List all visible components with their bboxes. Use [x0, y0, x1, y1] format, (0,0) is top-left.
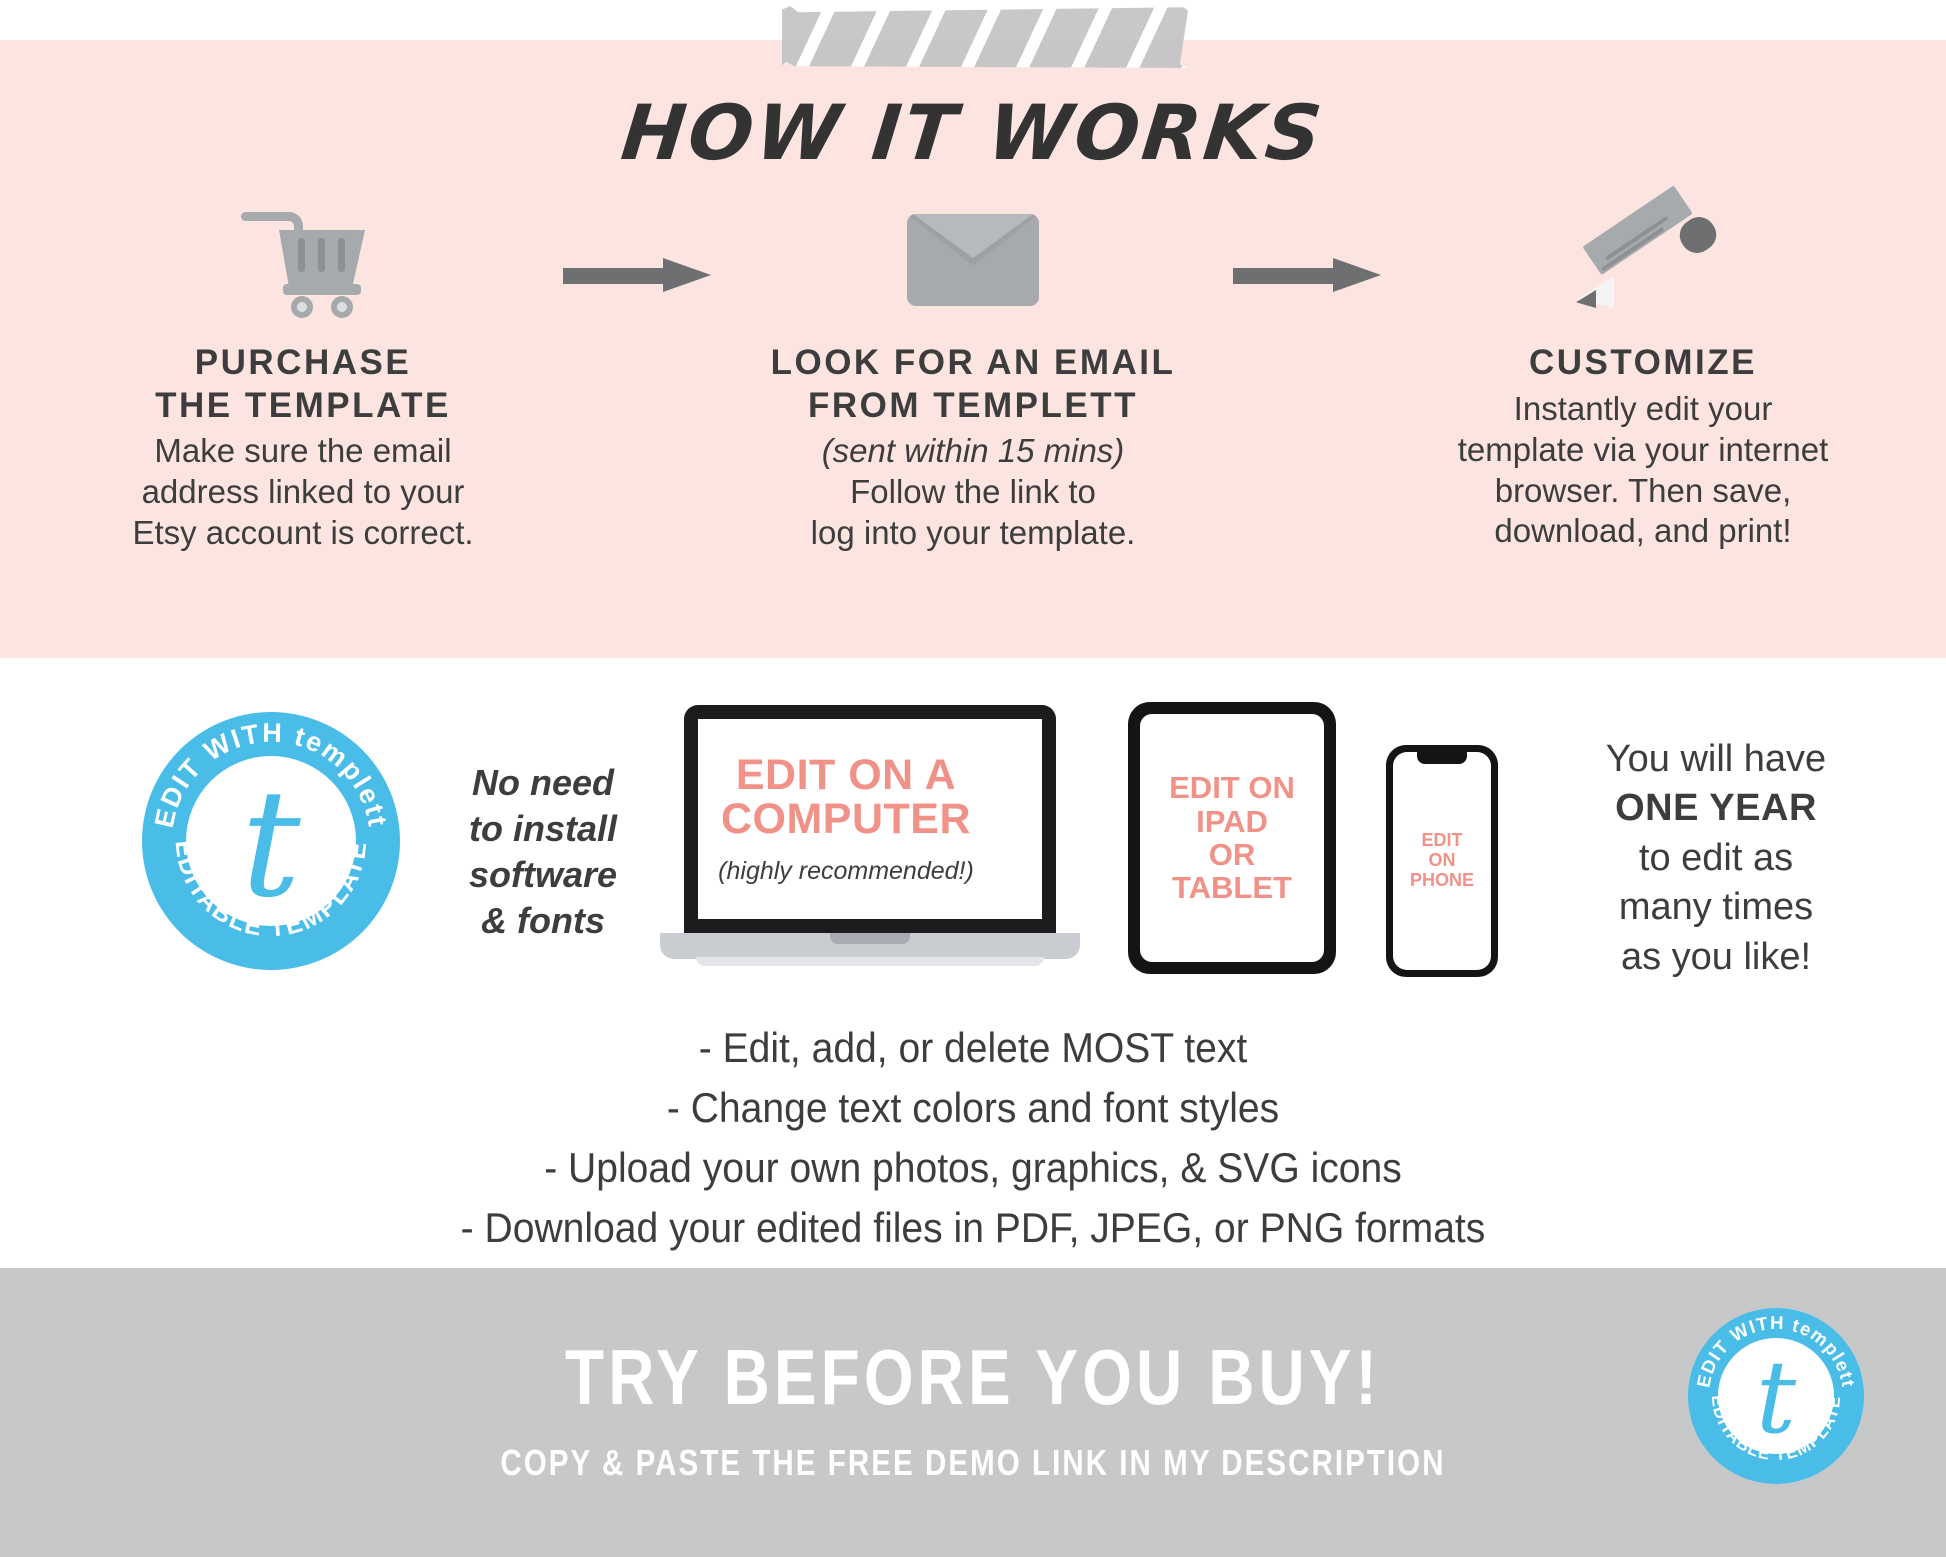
laptop-line1: EDIT ON A [674, 753, 1018, 797]
tablet-line2: IPAD [1169, 805, 1295, 838]
step-purchase: PURCHASE THE TEMPLATE Make sure the emai… [53, 200, 553, 554]
phone-line1: EDIT [1410, 831, 1474, 851]
step-customize-body: Instantly edit your template via your in… [1393, 389, 1893, 553]
step-heading-line1: CUSTOMIZE [1393, 342, 1893, 385]
phone-line2: ON [1410, 851, 1474, 871]
templett-badge-icon: EDIT WITH templett EDITABLE TEMPLATE t [142, 712, 400, 970]
templett-letter: t [142, 770, 400, 918]
laptop-notch [830, 933, 910, 944]
step-purchase-heading: PURCHASE THE TEMPLATE [53, 342, 553, 427]
one-year-text: You will have ONE YEAR to edit as many t… [1516, 735, 1916, 982]
templett-letter: t [1688, 1348, 1864, 1448]
arrow-right-icon [1233, 258, 1383, 292]
step-look-for-email: LOOK FOR AN EMAIL FROM TEMPLETT (sent wi… [723, 200, 1223, 554]
list-item: - Edit, add, or delete MOST text [68, 1018, 1878, 1078]
step-heading-line2: THE TEMPLATE [53, 385, 553, 428]
step-body-line1: Make sure the email [53, 431, 553, 472]
tablet-screen-text: EDIT ON IPAD OR TABLET [1169, 771, 1295, 905]
step-body-line3: Etsy account is correct. [53, 513, 553, 554]
list-item: - Download your edited files in PDF, JPE… [68, 1198, 1878, 1258]
phone-notch [1417, 752, 1467, 764]
one-year-line1: You will have [1516, 735, 1916, 784]
one-year-line3: to edit as [1516, 834, 1916, 883]
step-body-line1: (sent within 15 mins) [723, 431, 1223, 472]
step-body-line1: Instantly edit your [1393, 389, 1893, 430]
arrow-2 [1223, 200, 1393, 292]
footer-title: TRY BEFORE YOU BUY! [175, 1332, 1771, 1423]
arrow-1 [553, 200, 723, 292]
no-need-to-install-text: No need to install software & fonts [438, 760, 648, 944]
step-email-heading: LOOK FOR AN EMAIL FROM TEMPLETT [723, 342, 1223, 427]
tablet-line1: EDIT ON [1169, 771, 1295, 804]
laptop-foot [696, 957, 1044, 966]
envelope-icon [723, 200, 1223, 320]
step-heading-line2: FROM TEMPLETT [723, 385, 1223, 428]
no-need-line1: No need [438, 760, 648, 806]
laptop-screen-subtext: (highly recommended!) [674, 857, 1018, 886]
step-heading-line1: LOOK FOR AN EMAIL [723, 342, 1223, 385]
one-year-highlight: ONE YEAR [1615, 787, 1817, 829]
laptop-screen-heading: EDIT ON A COMPUTER [674, 753, 1018, 842]
step-email-body: (sent within 15 mins) Follow the link to… [723, 431, 1223, 554]
arrow-right-icon [563, 258, 713, 292]
step-body-line4: download, and print! [1393, 511, 1893, 552]
phone-screen-text: EDIT ON PHONE [1410, 831, 1474, 890]
one-year-line4: many times [1516, 883, 1916, 932]
one-year-line5: as you like! [1516, 933, 1916, 982]
list-item: - Upload your own photos, graphics, & SV… [68, 1138, 1878, 1198]
feature-bullet-list: - Edit, add, or delete MOST text - Chang… [68, 1018, 1878, 1258]
templett-badge-icon-footer: EDIT WITH templett EDITABLE TEMPLATE t [1688, 1308, 1864, 1484]
step-body-line2: template via your internet [1393, 430, 1893, 471]
step-body-line2: address linked to your [53, 472, 553, 513]
shopping-cart-icon [53, 200, 553, 320]
laptop-line2: COMPUTER [674, 797, 1018, 841]
step-body-line2: Follow the link to [723, 472, 1223, 513]
no-need-line3: software [438, 852, 648, 898]
no-need-line4: & fonts [438, 898, 648, 944]
tablet-line4: TABLET [1169, 871, 1295, 904]
washi-tape-icon [782, 6, 1188, 68]
how-it-works-infographic: HOW IT WORKS PURCHASE THE TEMPLATE Make … [0, 0, 1946, 1557]
step-body-line3: browser. Then save, [1393, 471, 1893, 512]
steps-row: PURCHASE THE TEMPLATE Make sure the emai… [0, 200, 1946, 620]
pencil-icon [1393, 200, 1893, 320]
step-purchase-body: Make sure the email address linked to yo… [53, 431, 553, 554]
phone-line3: PHONE [1410, 871, 1474, 891]
phone-screen: EDIT ON PHONE [1393, 752, 1491, 970]
list-item: - Change text colors and font styles [68, 1078, 1878, 1138]
page-title: HOW IT WORKS [0, 88, 1946, 177]
tablet-device-icon: EDIT ON IPAD OR TABLET [1128, 702, 1336, 974]
tablet-line3: OR [1169, 838, 1295, 871]
step-heading-line1: PURCHASE [53, 342, 553, 385]
step-customize: CUSTOMIZE Instantly edit your template v… [1393, 200, 1893, 552]
laptop-device-icon: EDIT ON A COMPUTER (highly recommended!) [660, 705, 1080, 975]
step-body-line3: log into your template. [723, 513, 1223, 554]
step-customize-heading: CUSTOMIZE [1393, 342, 1893, 385]
tablet-screen: EDIT ON IPAD OR TABLET [1140, 714, 1324, 962]
phone-device-icon: EDIT ON PHONE [1386, 745, 1498, 977]
footer-subtitle: COPY & PASTE THE FREE DEMO LINK IN MY DE… [175, 1442, 1771, 1484]
no-need-line2: to install [438, 806, 648, 852]
